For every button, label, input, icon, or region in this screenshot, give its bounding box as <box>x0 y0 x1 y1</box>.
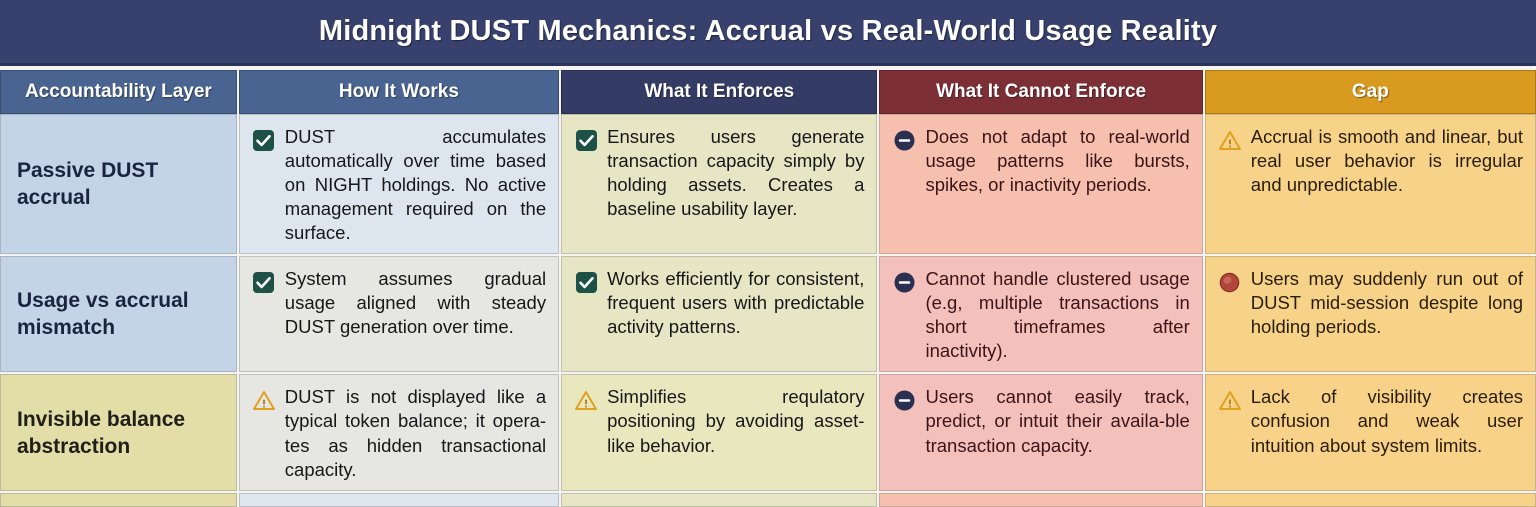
column-header-what-it-cannot-enforce: What It Cannot Enforce <box>879 70 1202 114</box>
column-header-accountability-layer: Accountability Layer <box>0 70 237 114</box>
check-icon <box>252 128 276 152</box>
cell-what-it-cannot-enforce-partial <box>879 493 1202 507</box>
cell-text: System assumes gradual usage aligned wit… <box>285 267 546 339</box>
title-banner: Midnight DUST Mechanics: Accrual vs Real… <box>0 0 1536 66</box>
cell-what-it-cannot-enforce: Cannot handle clustered usage (e.g, mult… <box>879 256 1202 372</box>
cell-text: Does not adapt to real-world usage patte… <box>925 125 1189 197</box>
table-row-partial <box>0 493 1536 507</box>
minus-icon <box>892 128 916 152</box>
cell-text: Accrual is smooth and linear, but real u… <box>1251 125 1523 197</box>
cell-what-it-enforces: Works efficiently for consistent, freque… <box>561 256 877 372</box>
cell-what-it-cannot-enforce: Does not adapt to real-world usage patte… <box>879 114 1202 254</box>
cell-text: Simplifies requlatory positioning by avo… <box>607 385 864 457</box>
column-header-gap: Gap <box>1205 70 1536 114</box>
cell-what-it-enforces: Simplifies requlatory positioning by avo… <box>561 374 877 490</box>
warning-icon <box>1218 128 1242 152</box>
warning-icon <box>252 388 276 412</box>
warning-icon <box>574 388 598 412</box>
cell-what-it-enforces-partial <box>561 493 877 507</box>
cell-text: Users cannot easily track, predict, or i… <box>925 385 1189 457</box>
infographic-table: Midnight DUST Mechanics: Accrual vs Real… <box>0 0 1536 442</box>
check-icon <box>574 128 598 152</box>
check-icon <box>574 270 598 294</box>
row-label-cell: Usage vs accrual mismatch <box>0 256 237 372</box>
row-label-cell-partial <box>0 493 237 507</box>
table-row: Usage vs accrual mismatch System assumes… <box>0 256 1536 374</box>
check-icon <box>252 270 276 294</box>
column-header-how-it-works: How It Works <box>239 70 559 114</box>
cell-how-it-works: DUST is not displayed like a typical tok… <box>239 374 559 490</box>
row-label-cell: Passive DUST accrual <box>0 114 237 254</box>
cell-text: DUST is not displayed like a typical tok… <box>285 385 546 481</box>
cell-text: Lack of visibility creates confusion and… <box>1251 385 1523 457</box>
minus-icon <box>892 270 916 294</box>
table-header-row: Accountability Layer How It Works What I… <box>0 66 1536 114</box>
row-label-cell: Invisible balance abstraction <box>0 374 237 490</box>
column-header-what-it-enforces: What It Enforces <box>561 70 877 114</box>
cell-text: DUST accumulates automatically over time… <box>285 125 546 245</box>
cell-gap-partial <box>1205 493 1536 507</box>
cell-text: Works efficiently for consistent, freque… <box>607 267 864 339</box>
cell-gap: Accrual is smooth and linear, but real u… <box>1205 114 1536 254</box>
cell-text: Ensures users generate transaction capac… <box>607 125 864 221</box>
cell-how-it-works-partial <box>239 493 559 507</box>
table-row: Invisible balance abstraction DUST is no… <box>0 374 1536 492</box>
row-label: Passive DUST accrual <box>17 158 226 212</box>
row-label: Invisible balance abstraction <box>17 407 226 461</box>
page-title: Midnight DUST Mechanics: Accrual vs Real… <box>319 15 1217 48</box>
cell-gap: Lack of visibility creates confusion and… <box>1205 374 1536 490</box>
comparison-table: Accountability Layer How It Works What I… <box>0 66 1536 507</box>
table-row: Passive DUST accrual DUST accumulates au… <box>0 114 1536 256</box>
warning-icon <box>1218 388 1242 412</box>
dot-icon <box>1218 270 1242 294</box>
cell-what-it-enforces: Ensures users generate transaction capac… <box>561 114 877 254</box>
cell-how-it-works: DUST accumulates automatically over time… <box>239 114 559 254</box>
cell-text: Users may suddenly run out of DUST mid-s… <box>1251 267 1523 339</box>
minus-icon <box>892 388 916 412</box>
cell-text: Cannot handle clustered usage (e.g, mult… <box>925 267 1189 363</box>
cell-how-it-works: System assumes gradual usage aligned wit… <box>239 256 559 372</box>
cell-what-it-cannot-enforce: Users cannot easily track, predict, or i… <box>879 374 1202 490</box>
cell-gap: Users may suddenly run out of DUST mid-s… <box>1205 256 1536 372</box>
row-label: Usage vs accrual mismatch <box>17 288 226 342</box>
